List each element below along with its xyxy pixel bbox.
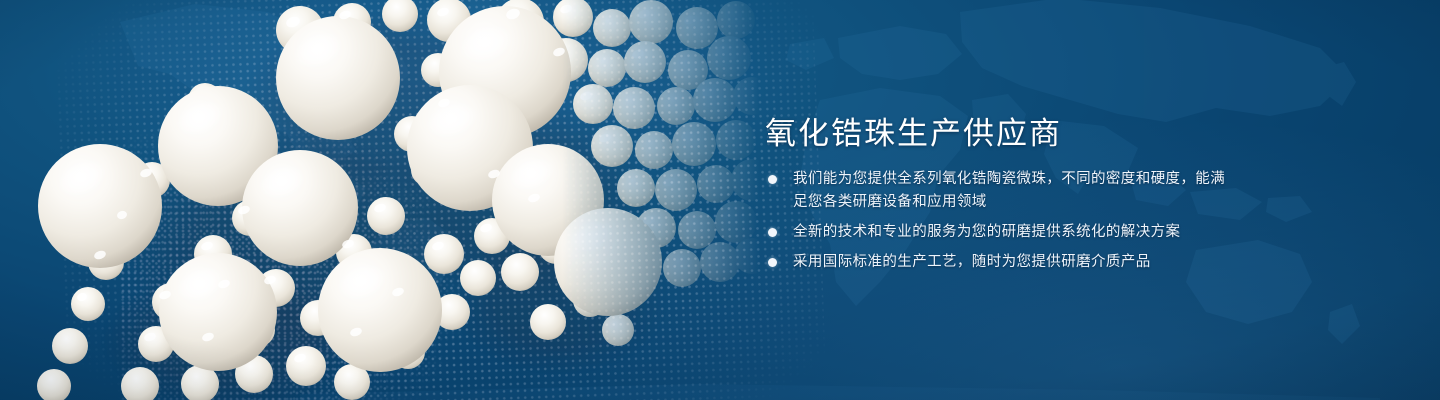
bullet-dot-icon — [768, 258, 777, 267]
list-item: 全新的技术和专业的服务为您的研磨提供系统化的解决方案 — [765, 221, 1235, 244]
list-item-label: 全新的技术和专业的服务为您的研磨提供系统化的解决方案 — [793, 221, 1235, 244]
list-item-label: 采用国际标准的生产工艺，随时为您提供研磨介质产品 — [793, 251, 1235, 274]
list-item-label: 我们能为您提供全系列氧化锆陶瓷微珠，不同的密度和硬度，能满足您各类研磨设备和应用… — [793, 168, 1235, 214]
bullet-dot-icon — [768, 175, 777, 184]
banner-content: 氧化锆珠生产供应商 我们能为您提供全系列氧化锆陶瓷微珠，不同的密度和硬度，能满足… — [765, 0, 1365, 400]
bullet-dot-icon — [768, 228, 777, 237]
list-item: 采用国际标准的生产工艺，随时为您提供研磨介质产品 — [765, 251, 1235, 274]
banner-headline: 氧化锆珠生产供应商 — [765, 108, 1062, 153]
promo-banner: 氧化锆珠生产供应商 我们能为您提供全系列氧化锆陶瓷微珠，不同的密度和硬度，能满足… — [0, 0, 1440, 400]
banner-feature-list: 我们能为您提供全系列氧化锆陶瓷微珠，不同的密度和硬度，能满足您各类研磨设备和应用… — [765, 168, 1235, 274]
list-item: 我们能为您提供全系列氧化锆陶瓷微珠，不同的密度和硬度，能满足您各类研磨设备和应用… — [765, 168, 1235, 214]
